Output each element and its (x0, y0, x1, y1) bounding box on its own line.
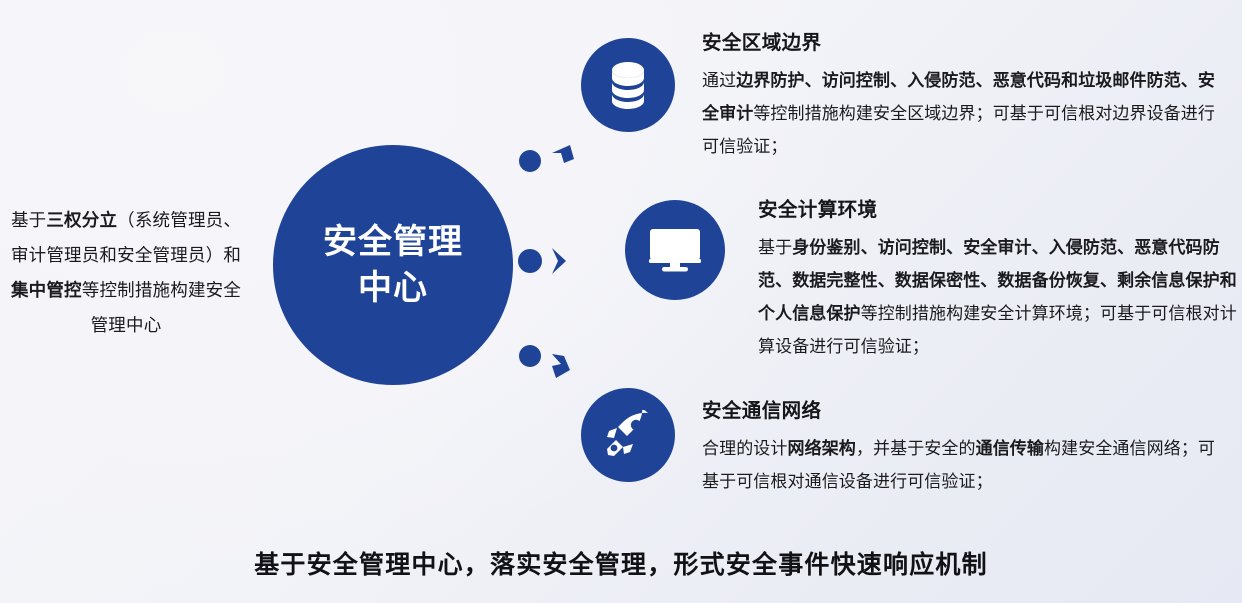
block-body: 基于身份鉴别、访问控制、安全审计、入侵防范、恶意代码防范、数据完整性、数据保密性… (758, 231, 1242, 363)
connector-to-network (514, 338, 584, 388)
block-heading: 安全区域边界 (702, 30, 1230, 56)
block-heading: 安全计算环境 (758, 197, 1242, 223)
rocket-icon (603, 410, 653, 460)
security-management-center-hub[interactable]: 安全管理 中心 (273, 145, 513, 385)
block-body: 通过边界防护、访问控制、入侵防范、恶意代码和垃圾邮件防范、安全审计等控制措施构建… (702, 64, 1230, 163)
dot-chevron-right-icon (552, 248, 566, 274)
monitor-icon (648, 227, 702, 273)
left-description-note: 基于三权分立（系统管理员、审计管理员和安全管理员）和集中管控等控制措施构建安全管… (8, 203, 244, 343)
database-icon (605, 60, 651, 110)
connector-dot-icon (519, 345, 541, 367)
diagram-canvas: 基于三权分立（系统管理员、审计管理员和安全管理员）和集中管控等控制措施构建安全管… (0, 0, 1242, 603)
left-description-text: 基于三权分立（系统管理员、审计管理员和安全管理员）和集中管控等控制措施构建安全管… (11, 210, 241, 335)
connector-to-boundary (514, 131, 584, 181)
text-block-secure-area-boundary: 安全区域边界 通过边界防护、访问控制、入侵防范、恶意代码和垃圾邮件防范、安全审计… (702, 30, 1230, 163)
icon-circle-secure-computing-environment[interactable] (625, 200, 725, 300)
connector-to-computing (514, 236, 584, 286)
text-block-secure-communication-network: 安全通信网络 合理的设计网络架构，并基于安全的通信传输构建安全通信网络；可基于可… (702, 398, 1230, 498)
icon-circle-secure-communication-network[interactable] (581, 388, 675, 482)
summary-caption: 基于安全管理中心，落实安全管理，形式安全事件快速响应机制 (0, 545, 1242, 581)
block-heading: 安全通信网络 (702, 398, 1230, 424)
connector-dot-icon (518, 249, 542, 273)
dot-arrow-down-right-icon (552, 354, 570, 378)
dot-arrow-up-right-icon (552, 145, 574, 163)
text-block-secure-computing-environment: 安全计算环境 基于身份鉴别、访问控制、安全审计、入侵防范、恶意代码防范、数据完整… (758, 197, 1242, 363)
icon-circle-secure-area-boundary[interactable] (581, 38, 675, 132)
connector-dot-icon (519, 150, 541, 172)
block-body: 合理的设计网络架构，并基于安全的通信传输构建安全通信网络；可基于可信根对通信设备… (702, 432, 1230, 498)
hub-label: 安全管理 中心 (323, 219, 463, 311)
